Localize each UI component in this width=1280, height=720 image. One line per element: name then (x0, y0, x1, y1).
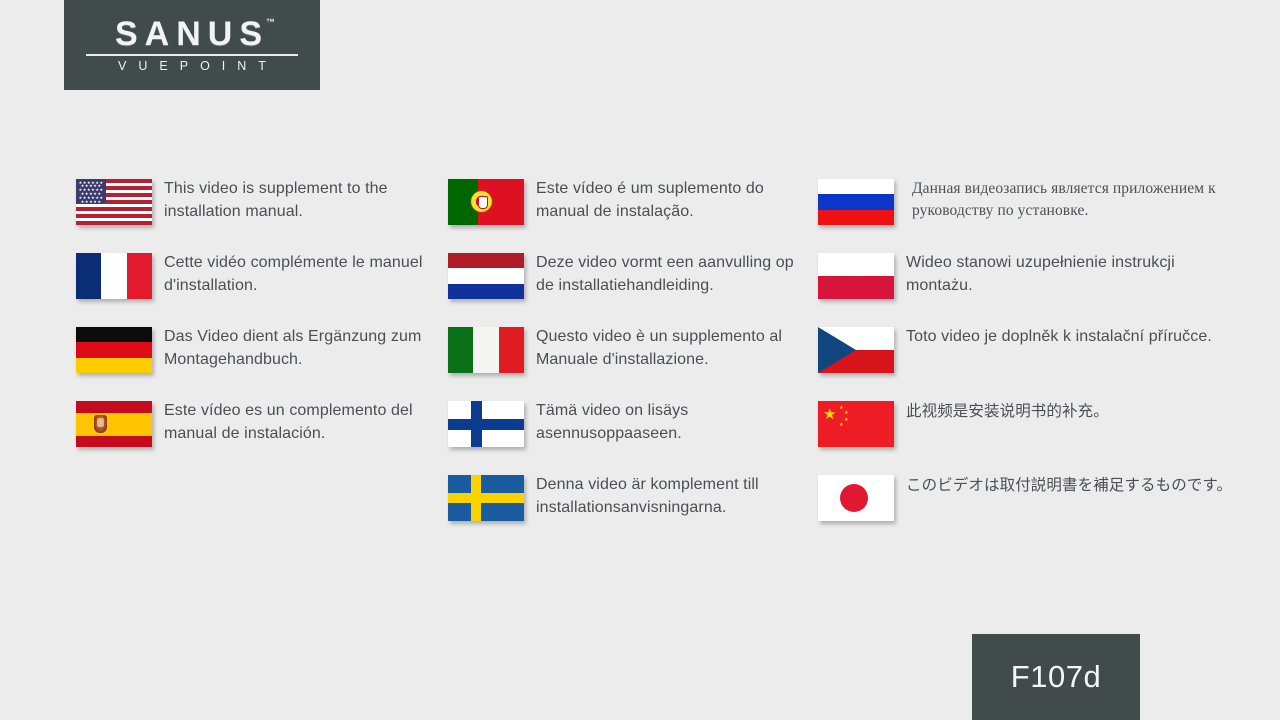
list-item: ★★★★★★ ★★★★★ ★★★★★★ ★★★★★ ★★★★★★ ★★★★★ T… (76, 176, 436, 234)
flag-france-icon (76, 253, 152, 299)
flag-poland-icon (818, 253, 894, 299)
trademark-symbol: ™ (266, 18, 275, 27)
brand-wordmark: SANUS ™ (109, 17, 275, 51)
list-item: Cette vidéo complémente le manuel d'inst… (76, 250, 436, 308)
brand-subwordmark: VUEPOINT (106, 60, 278, 73)
list-item: Denna video är komplement till installat… (448, 472, 808, 530)
lang-text-swedish: Denna video är komplement till installat… (536, 472, 808, 519)
list-item: ★ ★ ★ ★ ★ 此视频是安装说明书的补充。 (818, 398, 1238, 456)
list-item: Deze video vormt een aanvulling op de in… (448, 250, 808, 308)
lang-text-spanish: Este vídeo es un complemento del manual … (164, 398, 436, 445)
lang-text-french: Cette vidéo complémente le manuel d'inst… (164, 250, 436, 297)
portugal-armillary-emblem (471, 191, 492, 212)
lang-text-italian: Questo video è un supplemento al Manuale… (536, 324, 808, 371)
lang-text-dutch: Deze video vormt een aanvulling op de in… (536, 250, 808, 297)
list-item: Wideo stanowi uzupełnienie instrukcji mo… (818, 250, 1238, 308)
language-column-right: Данная видеозапись является приложением … (818, 176, 1238, 530)
model-code-badge: F107d (972, 634, 1140, 720)
language-column-middle: Este vídeo é um suplemento do manual de … (448, 176, 808, 530)
language-column-left: ★★★★★★ ★★★★★ ★★★★★★ ★★★★★ ★★★★★★ ★★★★★ T… (76, 176, 436, 456)
lang-text-japanese: このビデオは取付説明書を補足するものです。 (906, 472, 1232, 497)
flag-spain-icon (76, 401, 152, 447)
flag-portugal-icon (448, 179, 524, 225)
lang-text-russian: Данная видеозапись является приложением … (912, 176, 1238, 223)
list-item: Данная видеозапись является приложением … (818, 176, 1238, 234)
list-item: このビデオは取付説明書を補足するものです。 (818, 472, 1238, 530)
flag-netherlands-icon (448, 253, 524, 299)
list-item: Este vídeo es un complemento del manual … (76, 398, 436, 456)
lang-text-english: This video is supplement to the installa… (164, 176, 436, 223)
list-item: Toto video je doplněk k instalační příru… (818, 324, 1238, 382)
us-canton: ★★★★★★ ★★★★★ ★★★★★★ ★★★★★ ★★★★★★ ★★★★★ (76, 179, 106, 204)
list-item: Tämä video on lisäys asennusoppaaseen. (448, 398, 808, 456)
flag-sweden-icon (448, 475, 524, 521)
flag-russia-icon (818, 179, 894, 225)
flag-japan-icon (818, 475, 894, 521)
flag-united-states-icon: ★★★★★★ ★★★★★ ★★★★★★ ★★★★★ ★★★★★★ ★★★★★ (76, 179, 152, 225)
flag-germany-icon (76, 327, 152, 373)
flag-czech-republic-icon (818, 327, 894, 373)
list-item: Das Video dient als Ergänzung zum Montag… (76, 324, 436, 382)
spain-coat-of-arms (94, 415, 107, 433)
lang-text-chinese: 此视频是安装说明书的补充。 (906, 398, 1109, 423)
flag-finland-icon (448, 401, 524, 447)
lang-text-finnish: Tämä video on lisäys asennusoppaaseen. (536, 398, 808, 445)
list-item: Questo video è un supplemento al Manuale… (448, 324, 808, 382)
lang-text-german: Das Video dient als Ergänzung zum Montag… (164, 324, 436, 371)
lang-text-polish: Wideo stanowi uzupełnienie instrukcji mo… (906, 250, 1238, 297)
list-item: Este vídeo é um suplemento do manual de … (448, 176, 808, 234)
lang-text-czech: Toto video je doplněk k instalační příru… (906, 324, 1212, 349)
brand-logo: SANUS ™ VUEPOINT (64, 0, 320, 90)
brand-wordmark-text: SANUS (115, 17, 269, 51)
flag-china-icon: ★ ★ ★ ★ ★ (818, 401, 894, 447)
logo-divider (86, 54, 298, 56)
lang-text-portuguese: Este vídeo é um suplemento do manual de … (536, 176, 808, 223)
video-supplement-slide: { "brand": { "wordmark": "SANUS", "trade… (0, 0, 1280, 720)
flag-italy-icon (448, 327, 524, 373)
